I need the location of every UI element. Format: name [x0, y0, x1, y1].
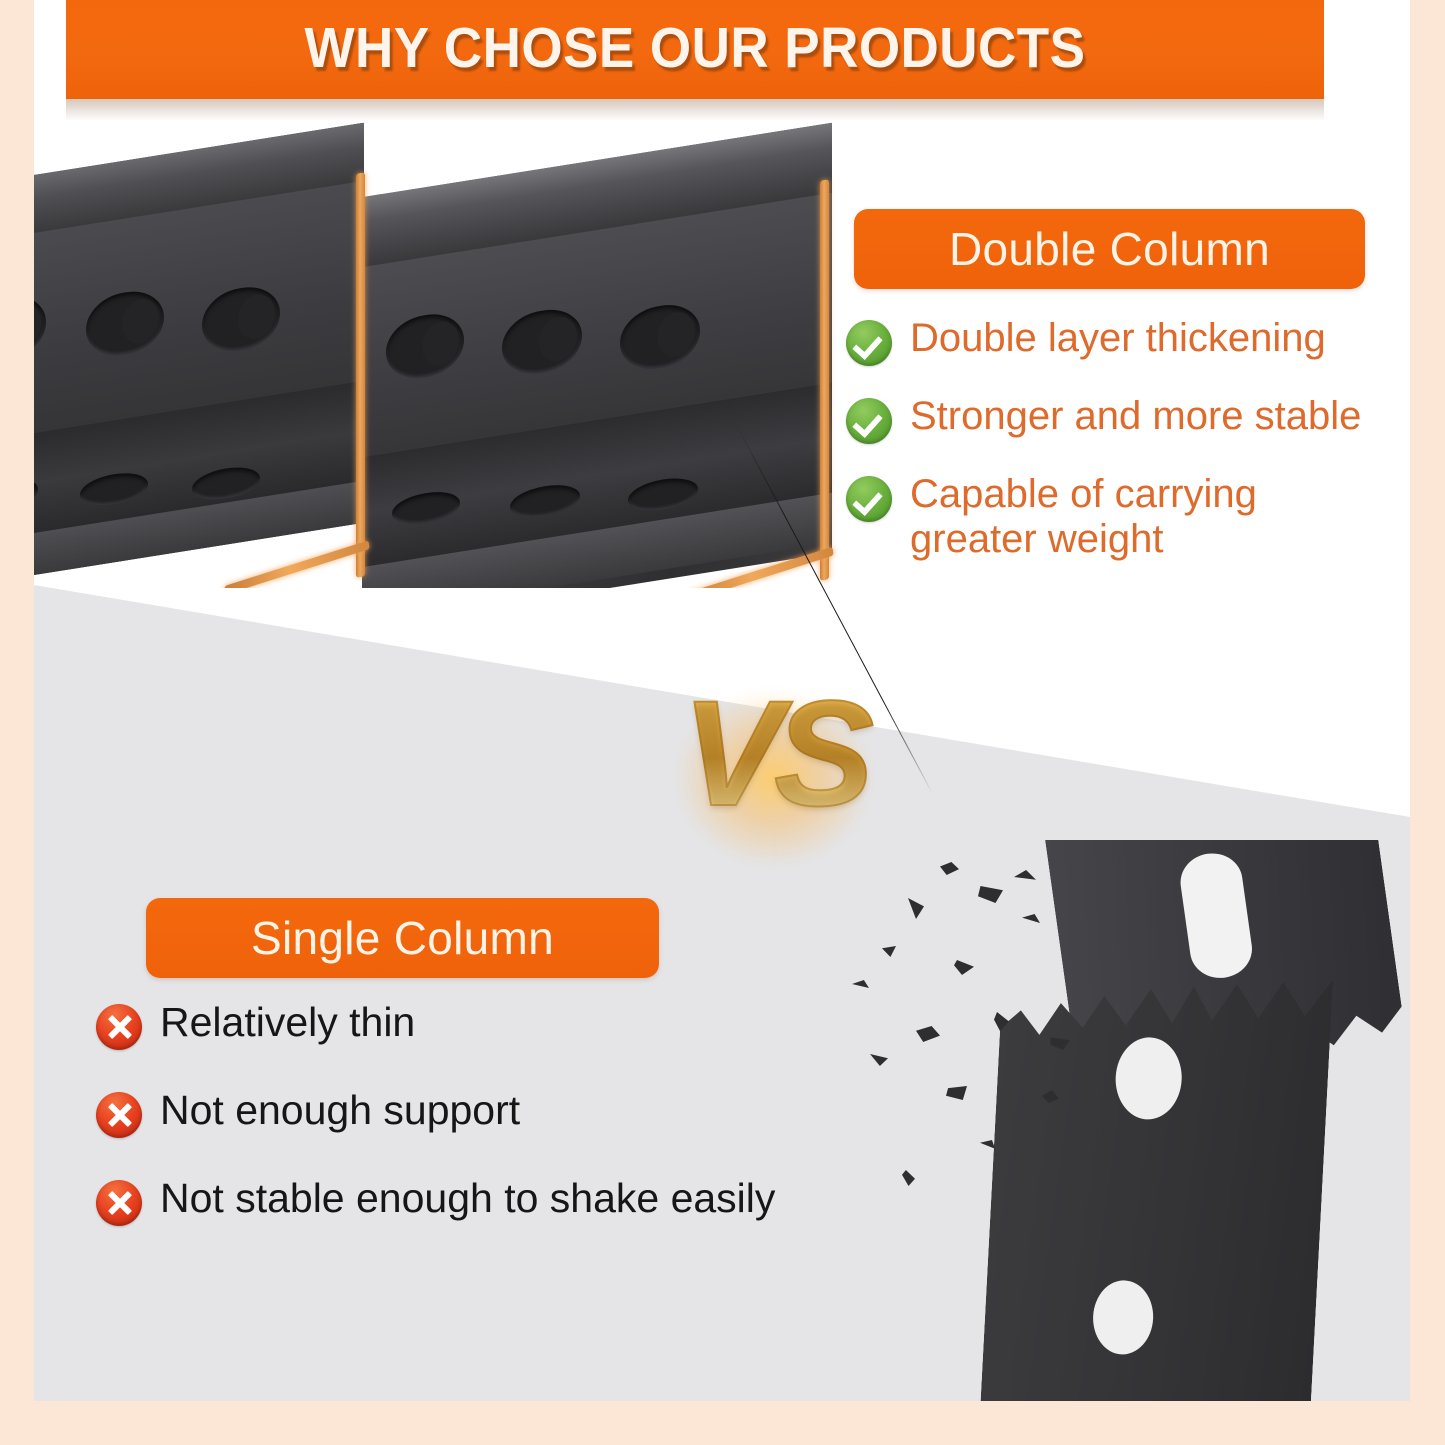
check-circle-icon	[846, 476, 892, 522]
list-item: Double layer thickening	[846, 316, 1410, 366]
copper-edge-highlight	[356, 172, 365, 577]
list-item: Stronger and more stable	[846, 394, 1410, 444]
broken-beam-lower-piece	[980, 944, 1334, 1401]
list-item: Relatively thin	[96, 1000, 886, 1050]
versus-label: VS	[634, 628, 914, 878]
cross-circle-icon	[96, 1180, 142, 1226]
feature-label: Stronger and more stable	[910, 394, 1361, 439]
list-item: Not stable enough to shake easily	[96, 1176, 886, 1226]
copper-edge-highlight	[820, 179, 829, 580]
versus-emblem: VS	[634, 628, 914, 878]
single-column-badge-label: Single Column	[251, 911, 554, 965]
header-banner: WHY CHOSE OUR PRODUCTS	[66, 0, 1324, 99]
broken-beam-photo	[844, 840, 1410, 1401]
double-column-feature-list: Double layer thickening Stronger and mor…	[846, 316, 1410, 590]
double-column-badge-label: Double Column	[949, 222, 1270, 276]
front-beam	[362, 123, 832, 588]
feature-label: Double layer thickening	[910, 316, 1326, 361]
double-column-badge: Double Column	[854, 209, 1365, 289]
feature-label: Not stable enough to shake easily	[160, 1176, 775, 1222]
feature-label: Capable of carrying greater weight	[910, 472, 1257, 562]
cross-circle-icon	[96, 1092, 142, 1138]
rear-beam	[34, 123, 364, 582]
copper-edge-highlight	[224, 540, 370, 588]
feature-label: Relatively thin	[160, 1000, 415, 1046]
single-column-feature-list: Relatively thin Not enough support Not s…	[96, 1000, 886, 1264]
debris-fragment	[978, 886, 1003, 903]
check-circle-icon	[846, 398, 892, 444]
debris-fragment	[902, 1170, 915, 1186]
debris-fragment	[1014, 870, 1036, 884]
double-column-photo	[34, 118, 844, 588]
infographic-page: VS Double Column Double layer thickening…	[0, 0, 1445, 1445]
beam-keyhole-slot	[1114, 1036, 1184, 1121]
beam-keyhole-slot	[1091, 1279, 1155, 1356]
feature-label: Not enough support	[160, 1088, 520, 1134]
debris-fragment	[940, 862, 959, 875]
check-circle-icon	[846, 320, 892, 366]
debris-fragment	[908, 898, 924, 919]
single-column-badge: Single Column	[146, 898, 659, 978]
list-item: Capable of carrying greater weight	[846, 472, 1410, 562]
page-title: WHY CHOSE OUR PRODUCTS	[110, 0, 1280, 99]
debris-fragment	[1022, 914, 1040, 926]
beam-keyhole-slot	[1177, 849, 1256, 981]
debris-fragment	[882, 946, 896, 957]
debris-fragment	[980, 1140, 995, 1151]
content-canvas: VS Double Column Double layer thickening…	[34, 0, 1410, 1401]
debris-fragment	[946, 1086, 967, 1100]
debris-fragment	[954, 960, 974, 975]
debris-fragment	[852, 980, 869, 990]
list-item: Not enough support	[96, 1088, 886, 1138]
cross-circle-icon	[96, 1004, 142, 1050]
debris-fragment	[916, 1026, 940, 1042]
